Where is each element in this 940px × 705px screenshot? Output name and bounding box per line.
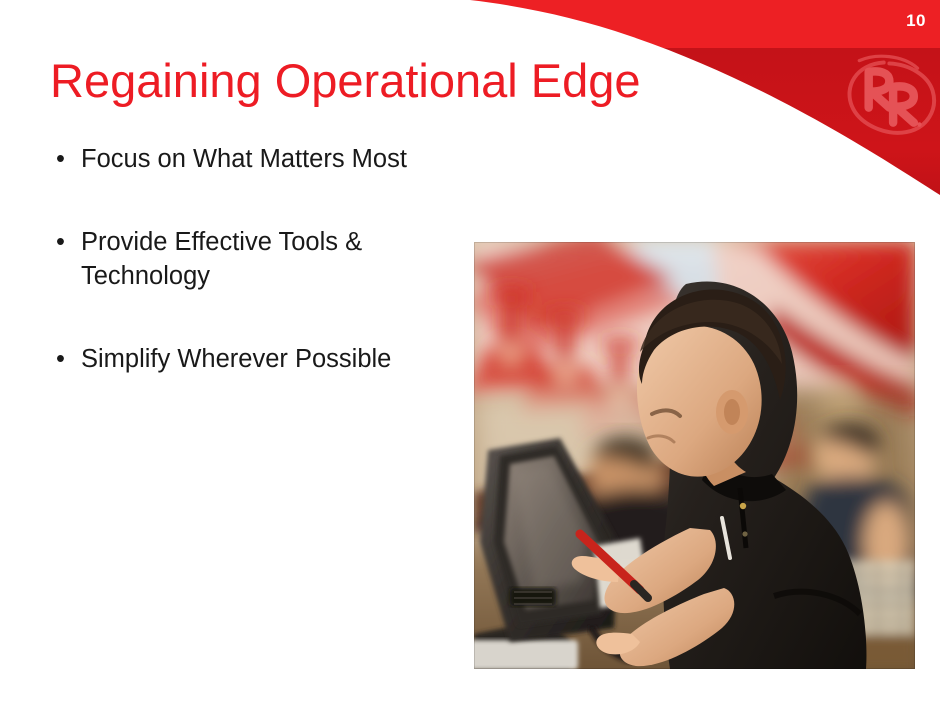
- bullet-text-1: Focus on What Matters Most: [81, 142, 458, 176]
- swoosh-upper-band: [0, 0, 940, 48]
- presentation-slide: 10 Regaining Operational Edge • Focus on…: [0, 0, 940, 705]
- restaurant-pos-photo: [474, 242, 915, 669]
- bullet-item-2: • Provide Effective Tools & Technology: [48, 225, 458, 293]
- slide-title: Regaining Operational Edge: [50, 56, 641, 107]
- bullet-marker-icon: •: [56, 142, 76, 176]
- bullet-text-2: Provide Effective Tools & Technology: [81, 225, 458, 293]
- page-number: 10: [906, 12, 926, 29]
- photo-illustration: [474, 242, 915, 669]
- bullet-marker-icon: •: [56, 342, 76, 376]
- bullet-item-1: • Focus on What Matters Most: [48, 142, 458, 176]
- bullet-marker-icon: •: [56, 225, 76, 259]
- bullet-item-3: • Simplify Wherever Possible: [48, 342, 458, 376]
- rr-logo-icon: [849, 56, 934, 133]
- bullet-list: • Focus on What Matters Most • Provide E…: [48, 142, 458, 376]
- bullet-text-3: Simplify Wherever Possible: [81, 342, 458, 376]
